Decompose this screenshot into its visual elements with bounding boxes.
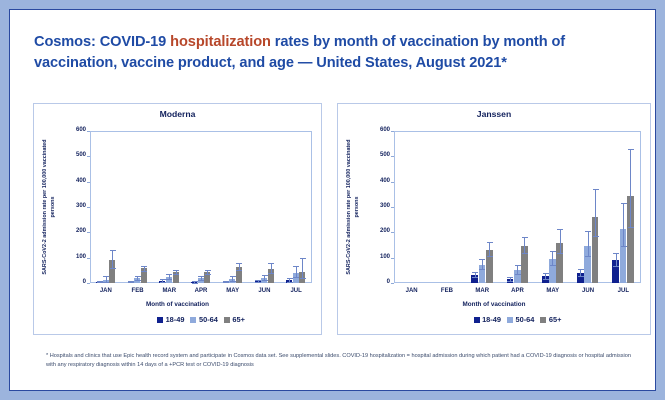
plot-area bbox=[90, 131, 312, 283]
error-bar-cap bbox=[593, 236, 599, 237]
y-tick-label: 500 bbox=[370, 152, 390, 158]
footnote-text: * Hospitals and clinics that use Epic he… bbox=[46, 352, 634, 371]
error-bar-cap bbox=[621, 203, 627, 204]
error-bar bbox=[112, 250, 113, 268]
x-tick-label: JUN bbox=[570, 288, 605, 294]
error-bar-cap bbox=[543, 279, 549, 280]
error-bar bbox=[623, 203, 624, 246]
error-bar-cap bbox=[557, 253, 563, 254]
y-tick-label: 600 bbox=[66, 127, 86, 133]
legend-swatch-icon bbox=[474, 317, 480, 323]
y-tick-label: 400 bbox=[370, 178, 390, 184]
error-bar-cap bbox=[472, 277, 478, 278]
error-bar-cap bbox=[578, 276, 584, 277]
x-tick-label: APR bbox=[185, 288, 217, 294]
x-tick-label: JUL bbox=[280, 288, 312, 294]
error-bar-cap bbox=[236, 270, 242, 271]
error-bar-cap bbox=[472, 272, 478, 273]
y-axis-label: SARS-CoV2-2 admission rate per 100,000 v… bbox=[42, 131, 57, 283]
legend-label: 18-49 bbox=[482, 315, 501, 324]
legend-item[interactable]: 65+ bbox=[224, 315, 245, 324]
error-bar bbox=[489, 242, 490, 257]
legend-label: 18-49 bbox=[166, 315, 185, 324]
plot-moderna: SARS-CoV2-2 admission rate per 100,000 v… bbox=[34, 104, 321, 334]
error-bar-cap bbox=[300, 278, 306, 279]
error-bar bbox=[616, 253, 617, 265]
error-bar bbox=[271, 263, 272, 273]
x-axis-title: Month of vaccination bbox=[338, 301, 650, 308]
legend-item[interactable]: 50-64 bbox=[507, 315, 534, 324]
y-axis-label: SARS-CoV2-2 admission rate per 100,000 v… bbox=[346, 131, 361, 283]
x-tick-label: JAN bbox=[90, 288, 122, 294]
legend-swatch-icon bbox=[540, 317, 546, 323]
error-bar-cap bbox=[550, 251, 556, 252]
x-tick-label: MAY bbox=[535, 288, 570, 294]
y-tick-mark bbox=[391, 283, 394, 284]
chart-legend: 18-4950-6465+ bbox=[90, 315, 312, 324]
error-bar-cap bbox=[173, 274, 179, 275]
error-bar-cap bbox=[141, 266, 147, 267]
y-tick-label: 200 bbox=[66, 228, 86, 234]
error-bar-cap bbox=[522, 237, 528, 238]
legend-item[interactable]: 18-49 bbox=[157, 315, 184, 324]
error-bar-cap bbox=[507, 281, 513, 282]
y-tick-label: 0 bbox=[66, 279, 86, 285]
x-axis-title: Month of vaccination bbox=[34, 301, 321, 308]
legend-item[interactable]: 65+ bbox=[540, 315, 561, 324]
error-bar-cap bbox=[173, 270, 179, 271]
legend-swatch-icon bbox=[190, 317, 196, 323]
error-bar-cap bbox=[507, 277, 513, 278]
error-bar-cap bbox=[487, 242, 493, 243]
y-tick-mark bbox=[87, 283, 90, 284]
legend-label: 50-64 bbox=[199, 315, 218, 324]
error-bar bbox=[482, 259, 483, 268]
error-bar-cap bbox=[515, 265, 521, 266]
legend-item[interactable]: 50-64 bbox=[190, 315, 217, 324]
chart-legend: 18-4950-6465+ bbox=[394, 315, 641, 324]
y-tick-label: 300 bbox=[66, 203, 86, 209]
error-bar bbox=[552, 251, 553, 264]
x-tick-label: JUL bbox=[606, 288, 641, 294]
legend-label: 65+ bbox=[232, 315, 245, 324]
page-title: Cosmos: COVID-19 hospitalization rates b… bbox=[34, 32, 634, 74]
x-tick-label: MAR bbox=[153, 288, 185, 294]
error-bar-cap bbox=[613, 266, 619, 267]
plot-area bbox=[394, 131, 641, 283]
error-bar bbox=[302, 258, 303, 277]
error-bar-cap bbox=[543, 273, 549, 274]
y-tick-label: 500 bbox=[66, 152, 86, 158]
error-bar-cap bbox=[550, 265, 556, 266]
error-bar-cap bbox=[578, 269, 584, 270]
x-tick-label: JUN bbox=[249, 288, 281, 294]
x-tick-label: JAN bbox=[394, 288, 429, 294]
legend-label: 65+ bbox=[549, 315, 562, 324]
legend-swatch-icon bbox=[507, 317, 513, 323]
error-bar bbox=[588, 231, 589, 257]
error-bar bbox=[595, 189, 596, 236]
y-tick-label: 100 bbox=[66, 254, 86, 260]
error-bar-cap bbox=[205, 274, 211, 275]
error-bar-cap bbox=[479, 269, 485, 270]
error-bar-cap bbox=[628, 149, 634, 150]
x-tick-label: FEB bbox=[429, 288, 464, 294]
error-bar-cap bbox=[205, 270, 211, 271]
y-tick-label: 300 bbox=[370, 203, 390, 209]
error-bar-cap bbox=[557, 229, 563, 230]
y-tick-label: 100 bbox=[370, 254, 390, 260]
y-tick-label: 600 bbox=[370, 127, 390, 133]
error-bar bbox=[524, 237, 525, 253]
error-bar-cap bbox=[515, 274, 521, 275]
title-highlight: hospitalization bbox=[170, 34, 271, 50]
error-bar-cap bbox=[268, 263, 274, 264]
error-bar bbox=[517, 265, 518, 273]
error-bar bbox=[239, 263, 240, 270]
error-bar bbox=[580, 269, 581, 276]
error-bar-cap bbox=[268, 273, 274, 274]
error-bar-cap bbox=[593, 189, 599, 190]
y-tick-label: 400 bbox=[66, 178, 86, 184]
error-bar-cap bbox=[110, 268, 116, 269]
chart-panel-janssen: Janssen SARS-CoV2-2 admission rate per 1… bbox=[337, 103, 651, 335]
x-tick-label: APR bbox=[500, 288, 535, 294]
legend-item[interactable]: 18-49 bbox=[474, 315, 501, 324]
error-bar-cap bbox=[293, 266, 299, 267]
error-bar bbox=[560, 229, 561, 254]
y-tick-label: 0 bbox=[370, 279, 390, 285]
legend-label: 50-64 bbox=[515, 315, 534, 324]
error-bar-cap bbox=[487, 256, 493, 257]
slide-root: Cosmos: COVID-19 hospitalization rates b… bbox=[0, 0, 665, 400]
error-bar-cap bbox=[522, 253, 528, 254]
error-bar-cap bbox=[110, 250, 116, 251]
x-tick-label: MAR bbox=[465, 288, 500, 294]
x-tick-label: FEB bbox=[122, 288, 154, 294]
title-prefix: Cosmos: COVID-19 bbox=[34, 34, 170, 50]
error-bar-cap bbox=[585, 231, 591, 232]
chart-panel-moderna: Moderna SARS-CoV2-2 admission rate per 1… bbox=[33, 103, 322, 335]
legend-swatch-icon bbox=[224, 317, 230, 323]
error-bar-cap bbox=[628, 227, 634, 228]
error-bar-cap bbox=[621, 246, 627, 247]
error-bar bbox=[296, 266, 297, 277]
x-tick-label: MAY bbox=[217, 288, 249, 294]
error-bar-cap bbox=[141, 271, 147, 272]
error-bar-cap bbox=[585, 256, 591, 257]
error-bar bbox=[630, 149, 631, 227]
error-bar-cap bbox=[300, 258, 306, 259]
plot-janssen: SARS-CoV2-2 admission rate per 100,000 v… bbox=[338, 104, 650, 334]
error-bar-cap bbox=[479, 259, 485, 260]
y-tick-label: 200 bbox=[370, 228, 390, 234]
legend-swatch-icon bbox=[157, 317, 163, 323]
error-bar-cap bbox=[236, 263, 242, 264]
error-bar-cap bbox=[613, 253, 619, 254]
slide-inner-card: Cosmos: COVID-19 hospitalization rates b… bbox=[9, 9, 656, 391]
